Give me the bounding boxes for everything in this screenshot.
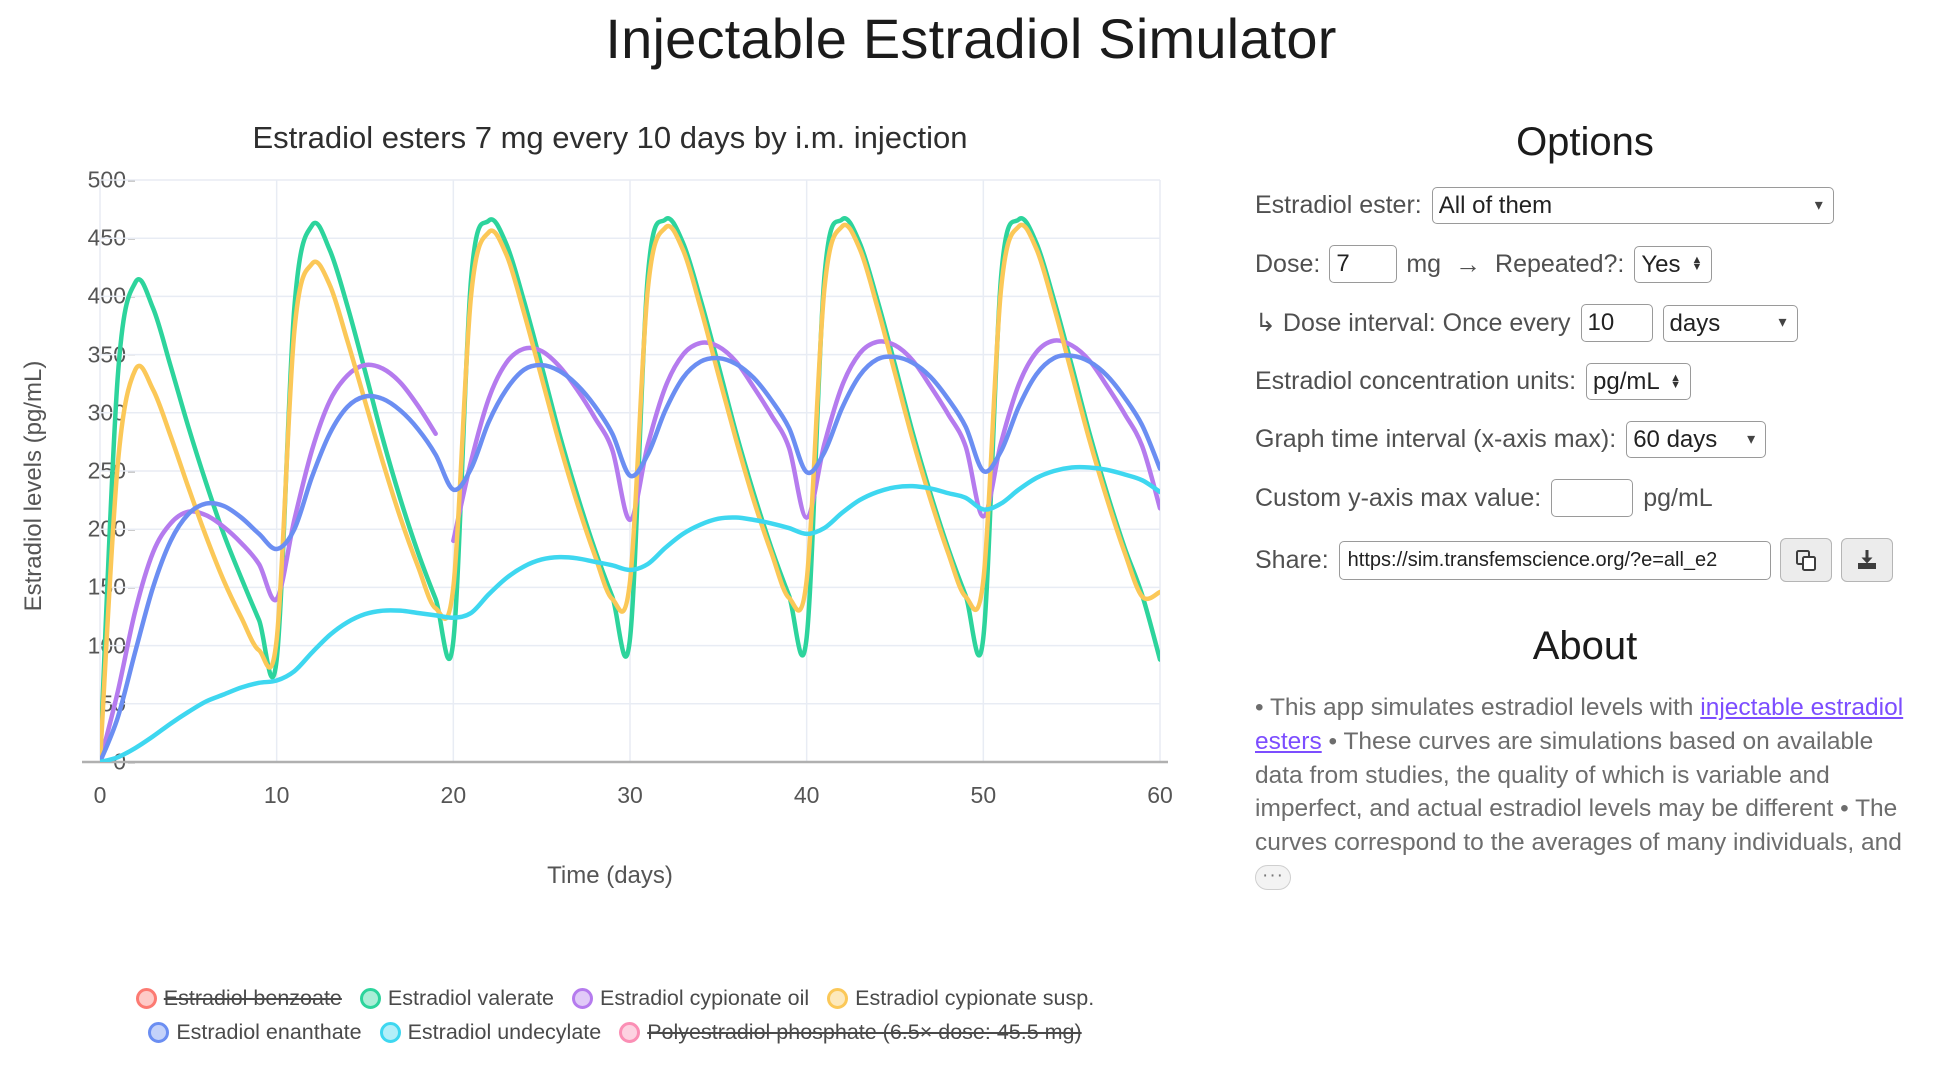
dose-input[interactable] bbox=[1329, 245, 1397, 283]
dose-unit: mg bbox=[1406, 250, 1441, 279]
legend-item-label: Polyestradiol phosphate (6.5× dose: 45.5… bbox=[647, 1020, 1081, 1045]
option-row-units: Estradiol concentration units: pg/mL ▲▼ bbox=[1255, 363, 1915, 400]
chart-panel: Estradiol esters 7 mg every 10 days by i… bbox=[0, 120, 1180, 1080]
about-text: • This app simulates estradiol levels wi… bbox=[1255, 691, 1915, 894]
option-row-interval: ↳ Dose interval: Once every days ▾ bbox=[1255, 304, 1915, 342]
legend-item[interactable]: Estradiol cypionate susp. bbox=[827, 986, 1094, 1011]
x-tick-label: 10 bbox=[232, 782, 322, 809]
legend-color-swatch bbox=[380, 1022, 401, 1043]
dose-label: Dose: bbox=[1255, 250, 1320, 279]
ymax-unit: pg/mL bbox=[1643, 484, 1712, 513]
time-interval-select[interactable]: 60 days bbox=[1626, 421, 1766, 458]
legend-item-label: Estradiol valerate bbox=[388, 986, 554, 1011]
copy-icon bbox=[1794, 548, 1818, 572]
download-icon bbox=[1855, 548, 1879, 572]
units-label: Estradiol concentration units: bbox=[1255, 367, 1576, 396]
plot-area: Estradiol levels (pg/mL) Time (days) 050… bbox=[0, 172, 1180, 902]
x-tick-label: 40 bbox=[762, 782, 852, 809]
legend-color-swatch bbox=[619, 1022, 640, 1043]
units-select[interactable]: pg/mL bbox=[1586, 363, 1691, 400]
option-row-ester: Estradiol ester: All of them ▾ bbox=[1255, 187, 1915, 224]
ester-label: Estradiol ester: bbox=[1255, 191, 1422, 220]
legend-row: Estradiol enanthateEstradiol undecylateP… bbox=[60, 1020, 1170, 1045]
interval-label: ↳ Dose interval: Once every bbox=[1255, 308, 1571, 338]
options-panel: Options Estradiol ester: All of them ▾ D… bbox=[1255, 120, 1915, 894]
repeated-label: Repeated?: bbox=[1495, 250, 1624, 279]
about-heading: About bbox=[1255, 624, 1915, 669]
share-label: Share: bbox=[1255, 546, 1329, 575]
legend-item[interactable]: Polyestradiol phosphate (6.5× dose: 45.5… bbox=[619, 1020, 1081, 1045]
legend-item[interactable]: Estradiol cypionate oil bbox=[572, 986, 809, 1011]
option-row-ymax: Custom y-axis max value: pg/mL bbox=[1255, 479, 1915, 517]
page-title: Injectable Estradiol Simulator bbox=[0, 6, 1942, 71]
legend-item[interactable]: Estradiol enanthate bbox=[148, 1020, 361, 1045]
legend-color-swatch bbox=[827, 988, 848, 1009]
chart-svg bbox=[0, 172, 1180, 772]
option-row-dose: Dose: mg → Repeated?: Yes ▲▼ bbox=[1255, 245, 1915, 283]
x-tick-label: 30 bbox=[585, 782, 675, 809]
interval-unit-select[interactable]: days bbox=[1663, 305, 1798, 342]
x-tick-label: 50 bbox=[938, 782, 1028, 809]
option-row-share: Share: bbox=[1255, 538, 1915, 582]
copy-button[interactable] bbox=[1780, 538, 1832, 582]
about-text-before: • This app simulates estradiol levels wi… bbox=[1255, 694, 1700, 721]
legend-color-swatch bbox=[148, 1022, 169, 1043]
options-heading: Options bbox=[1255, 120, 1915, 165]
legend-item[interactable]: Estradiol valerate bbox=[360, 986, 554, 1011]
x-tick-label: 60 bbox=[1115, 782, 1205, 809]
legend-item[interactable]: Estradiol benzoate bbox=[136, 986, 342, 1011]
legend-item-label: Estradiol enanthate bbox=[176, 1020, 361, 1045]
legend-item-label: Estradiol benzoate bbox=[164, 986, 342, 1011]
interval-input[interactable] bbox=[1581, 304, 1653, 342]
share-url-input[interactable] bbox=[1339, 541, 1771, 580]
option-row-time-interval: Graph time interval (x-axis max): 60 day… bbox=[1255, 421, 1915, 458]
legend-color-swatch bbox=[572, 988, 593, 1009]
about-text-after: • These curves are simulations based on … bbox=[1255, 728, 1902, 856]
x-axis-label: Time (days) bbox=[60, 862, 1160, 890]
repeated-select[interactable]: Yes bbox=[1634, 246, 1712, 283]
chart-legend: Estradiol benzoateEstradiol valerateEstr… bbox=[60, 986, 1170, 1054]
legend-item[interactable]: Estradiol undecylate bbox=[380, 1020, 602, 1045]
x-tick-label: 20 bbox=[408, 782, 498, 809]
legend-item-label: Estradiol undecylate bbox=[408, 1020, 602, 1045]
download-button[interactable] bbox=[1841, 538, 1893, 582]
ymax-label: Custom y-axis max value: bbox=[1255, 484, 1541, 513]
legend-color-swatch bbox=[360, 988, 381, 1009]
legend-item-label: Estradiol cypionate oil bbox=[600, 986, 809, 1011]
legend-row: Estradiol benzoateEstradiol valerateEstr… bbox=[60, 986, 1170, 1011]
time-interval-label: Graph time interval (x-axis max): bbox=[1255, 425, 1616, 454]
chart-title: Estradiol esters 7 mg every 10 days by i… bbox=[60, 120, 1160, 156]
ymax-input[interactable] bbox=[1551, 479, 1633, 517]
ester-select[interactable]: All of them bbox=[1432, 187, 1834, 224]
arrow-right-icon: → bbox=[1455, 249, 1481, 280]
legend-color-swatch bbox=[136, 988, 157, 1009]
about-section: About • This app simulates estradiol lev… bbox=[1255, 624, 1915, 894]
x-tick-label: 0 bbox=[55, 782, 145, 809]
legend-item-label: Estradiol cypionate susp. bbox=[855, 986, 1094, 1011]
show-more-button[interactable]: ··· bbox=[1255, 865, 1291, 890]
